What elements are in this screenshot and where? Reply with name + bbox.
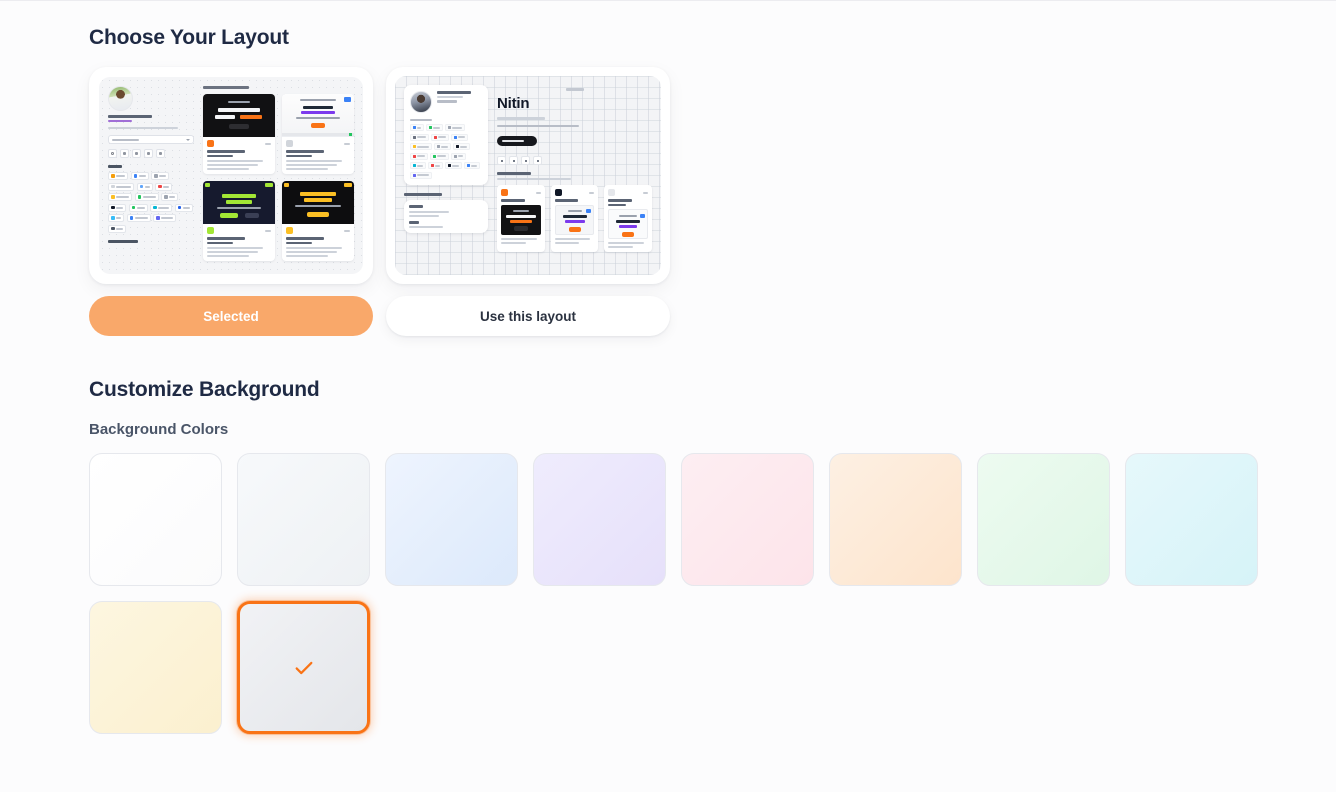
social-icon xyxy=(521,156,530,165)
skill-chip xyxy=(451,134,468,141)
social-icon xyxy=(533,156,542,165)
project-grid xyxy=(203,94,354,261)
skill-chip xyxy=(108,204,126,212)
skill-chip xyxy=(464,162,480,169)
skill-chip xyxy=(410,162,426,169)
skill-chip xyxy=(428,162,443,169)
layout-options-row: Selected xyxy=(89,67,1336,336)
skill-chip xyxy=(431,134,449,141)
skill-chip xyxy=(410,143,432,150)
hero-name: Nitin xyxy=(497,96,652,111)
swatch-ice-blue[interactable] xyxy=(385,453,518,586)
skill-chip xyxy=(451,153,466,160)
social-icon xyxy=(120,149,129,158)
social-icon xyxy=(497,156,506,165)
skill-chip xyxy=(426,124,443,131)
social-icon xyxy=(132,149,141,158)
skills-heading-line xyxy=(108,165,122,168)
avatar xyxy=(108,86,133,111)
project-card xyxy=(282,94,354,174)
skill-chip xyxy=(153,214,176,222)
profile-role-line xyxy=(108,120,132,122)
social-icon xyxy=(144,149,153,158)
swatch-mint[interactable] xyxy=(977,453,1110,586)
layout-preview-card-2[interactable]: Nitin xyxy=(386,67,670,284)
skill-chip xyxy=(108,172,128,180)
swatch-slate-gray[interactable] xyxy=(237,601,370,734)
skill-chip xyxy=(135,193,159,201)
skill-chip xyxy=(434,143,451,150)
page-title-customize-background: Customize Background xyxy=(89,379,1336,400)
skill-chip xyxy=(445,124,465,131)
swatch-white[interactable] xyxy=(89,453,222,586)
preview-profile-card xyxy=(404,85,488,275)
skill-chip-list xyxy=(108,172,194,233)
swatch-aqua[interactable] xyxy=(1125,453,1258,586)
project-card xyxy=(203,94,275,174)
skill-chip xyxy=(108,193,132,201)
skill-chip xyxy=(453,143,470,150)
layout-1-select-button[interactable]: Selected xyxy=(89,296,373,336)
featured-work-heading-line xyxy=(203,86,249,89)
layout-option-sidebar-profile: Selected xyxy=(89,67,373,336)
skill-chip xyxy=(445,162,462,169)
social-icon-row xyxy=(108,149,194,158)
skill-chip xyxy=(108,183,134,191)
layout-preview-card-1[interactable] xyxy=(89,67,373,284)
skill-chip-list xyxy=(410,124,482,179)
layout-option-hero-name: Nitin xyxy=(386,67,670,336)
project-card xyxy=(203,181,275,261)
preview-hero: Nitin xyxy=(497,85,652,275)
skill-chip xyxy=(129,204,148,212)
layout-preview-1 xyxy=(99,77,363,274)
skill-chip xyxy=(410,124,424,131)
chevron-down-icon xyxy=(186,139,190,141)
project-card xyxy=(551,185,599,252)
project-card xyxy=(604,185,652,252)
skill-chip xyxy=(161,193,178,201)
project-card xyxy=(282,181,354,261)
background-color-swatch-grid xyxy=(89,453,1259,734)
skill-chip xyxy=(155,183,172,191)
project-card xyxy=(497,185,545,252)
profile-name-line xyxy=(108,115,152,118)
layout-preview-2: Nitin xyxy=(395,76,661,275)
swatch-peach[interactable] xyxy=(829,453,962,586)
avatar xyxy=(410,91,432,113)
skill-chip xyxy=(127,214,151,222)
preview-projects xyxy=(203,86,354,274)
skill-chip xyxy=(430,153,449,160)
skill-chip xyxy=(151,172,169,180)
experience-heading-line xyxy=(108,240,138,243)
swatch-lavender[interactable] xyxy=(533,453,666,586)
page-title-choose-layout: Choose Your Layout xyxy=(89,27,1336,48)
skill-chip xyxy=(410,134,429,141)
hero-cta-pill xyxy=(497,136,537,146)
skill-chip xyxy=(410,172,432,179)
swatch-cream[interactable] xyxy=(89,601,222,734)
social-icon xyxy=(156,149,165,158)
skill-chip xyxy=(108,214,124,222)
skill-chip xyxy=(410,153,428,160)
social-icon xyxy=(509,156,518,165)
hero-kicker-line xyxy=(566,88,584,91)
background-colors-label: Background Colors xyxy=(89,421,1336,438)
project-row xyxy=(497,185,652,252)
skill-chip xyxy=(137,183,153,191)
preview-select xyxy=(108,135,194,144)
layout-picker-page: Choose Your Layout xyxy=(0,1,1336,734)
skill-chip xyxy=(175,204,193,212)
social-icon xyxy=(108,149,117,158)
skill-chip xyxy=(150,204,172,212)
layout-2-select-button[interactable]: Use this layout xyxy=(386,296,670,336)
swatch-light-gray[interactable] xyxy=(237,453,370,586)
hero-social-row xyxy=(497,156,652,165)
preview-sidebar xyxy=(108,86,194,274)
skill-chip xyxy=(131,172,149,180)
swatch-blush-pink[interactable] xyxy=(681,453,814,586)
check-icon xyxy=(293,657,315,679)
profile-bio-line xyxy=(108,127,178,129)
skill-chip xyxy=(108,225,126,233)
selected-work-heading-line xyxy=(497,172,531,175)
